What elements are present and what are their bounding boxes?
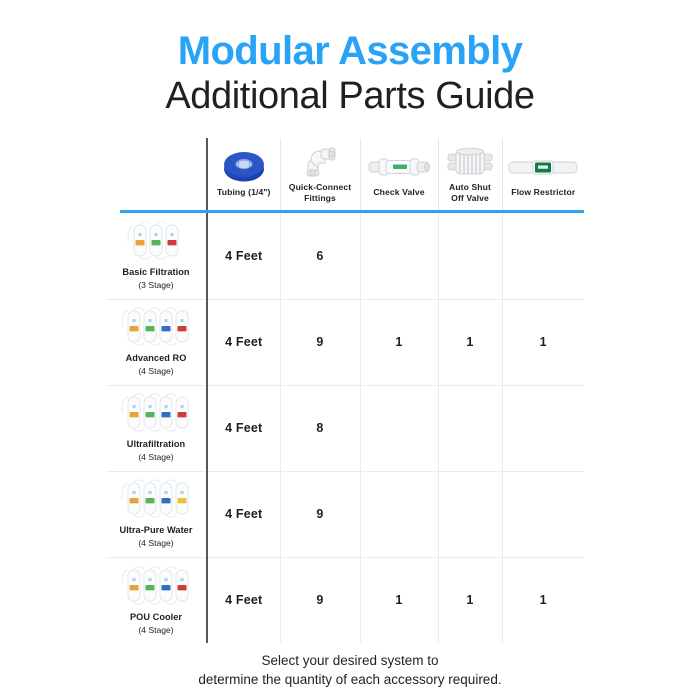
filter-system-4-stage-icon — [108, 393, 204, 433]
row-label-ultrafiltration[interactable]: Ultrafiltration (4 Stage) — [106, 385, 207, 471]
cell-auto-shut-off: 1 — [438, 557, 502, 643]
check-valve-icon — [361, 147, 438, 187]
header-label-auto-shut-off: Auto Shut Off Valve — [439, 182, 502, 206]
cell-value: 1 — [395, 335, 402, 349]
cell-check-valve: 1 — [360, 299, 438, 385]
system-name: Basic Filtration — [108, 267, 204, 278]
row-label-ultra-pure-water[interactable]: Ultra-Pure Water (4 Stage) — [106, 471, 207, 557]
parts-table-wrap: Tubing (1/4") — [106, 138, 584, 643]
header-cell-auto-shut-off: Auto Shut Off Valve — [438, 138, 502, 210]
cell-value: 1 — [466, 335, 473, 349]
system-stage: (4 Stage) — [108, 366, 204, 376]
cell-auto-shut-off — [438, 385, 502, 471]
cell-fittings: 9 — [280, 299, 360, 385]
filter-system-4-stage-icon — [108, 307, 204, 347]
table-header-row: Tubing (1/4") — [106, 138, 584, 210]
cell-flow-restrictor — [502, 213, 584, 299]
footer-line-2: determine the quantity of each accessory… — [0, 670, 700, 690]
cell-value: 6 — [316, 249, 323, 263]
cell-value: 9 — [316, 335, 323, 349]
page-title-sub: Additional Parts Guide — [0, 75, 700, 118]
footer-instructions: Select your desired system to determine … — [0, 651, 700, 690]
cell-value: 1 — [540, 335, 547, 349]
cell-tubing: 4 Feet — [207, 299, 280, 385]
cell-check-valve — [360, 385, 438, 471]
cell-tubing: 4 Feet — [207, 213, 280, 299]
title-block: Modular Assembly Additional Parts Guide — [0, 0, 700, 118]
cell-value: 1 — [466, 593, 473, 607]
system-name: Ultra-Pure Water — [108, 525, 204, 536]
cell-tubing: 4 Feet — [207, 471, 280, 557]
system-name: Advanced RO — [108, 353, 204, 364]
header-label-fittings: Quick-Connect Fittings — [281, 182, 360, 206]
row-label-advanced-ro[interactable]: Advanced RO (4 Stage) — [106, 299, 207, 385]
table-row[interactable]: Advanced RO (4 Stage) 4 Feet 9 1 1 1 — [106, 299, 584, 385]
cell-value: 4 Feet — [225, 593, 262, 607]
filter-system-3-stage-icon — [108, 221, 204, 261]
quick-connect-elbow-fitting-icon — [281, 142, 360, 182]
cell-flow-restrictor: 1 — [502, 299, 584, 385]
system-name: Ultrafiltration — [108, 439, 204, 450]
system-stage: (4 Stage) — [108, 538, 204, 548]
row-label-pou-cooler[interactable]: POU Cooler (4 Stage) — [106, 557, 207, 643]
parts-guide-page: Modular Assembly Additional Parts Guide — [0, 0, 700, 700]
footer-line-1: Select your desired system to — [0, 651, 700, 671]
cell-value: 4 Feet — [225, 249, 262, 263]
system-stage: (4 Stage) — [108, 452, 204, 462]
parts-table: Tubing (1/4") — [106, 138, 584, 643]
table-row[interactable]: Ultrafiltration (4 Stage) 4 Feet 8 — [106, 385, 584, 471]
auto-shut-off-valve-icon — [439, 142, 502, 182]
header-cell-flow-restrictor: Flow Restrictor — [502, 138, 584, 210]
cell-value: 9 — [316, 507, 323, 521]
header-cell-tubing: Tubing (1/4") — [207, 138, 280, 210]
cell-check-valve: 1 — [360, 557, 438, 643]
cell-flow-restrictor — [502, 385, 584, 471]
cell-value: 4 Feet — [225, 421, 262, 435]
cell-fittings: 8 — [280, 385, 360, 471]
cell-flow-restrictor — [502, 471, 584, 557]
cell-value: 4 Feet — [225, 507, 262, 521]
cell-flow-restrictor: 1 — [502, 557, 584, 643]
cell-fittings: 9 — [280, 557, 360, 643]
cell-check-valve — [360, 213, 438, 299]
table-row[interactable]: POU Cooler (4 Stage) 4 Feet 9 1 1 1 — [106, 557, 584, 643]
cell-check-valve — [360, 471, 438, 557]
cell-auto-shut-off: 1 — [438, 299, 502, 385]
flow-restrictor-icon — [503, 147, 585, 187]
cell-value: 4 Feet — [225, 335, 262, 349]
cell-fittings: 9 — [280, 471, 360, 557]
cell-tubing: 4 Feet — [207, 557, 280, 643]
table-row[interactable]: Basic Filtration (3 Stage) 4 Feet 6 — [106, 213, 584, 299]
cell-value: 1 — [540, 593, 547, 607]
row-label-basic-filtration[interactable]: Basic Filtration (3 Stage) — [106, 213, 207, 299]
filter-system-4-stage-icon — [108, 479, 204, 519]
page-title-main: Modular Assembly — [0, 30, 700, 73]
cell-tubing: 4 Feet — [207, 385, 280, 471]
system-stage: (4 Stage) — [108, 625, 204, 635]
table-row[interactable]: Ultra-Pure Water (4 Stage) 4 Feet 9 — [106, 471, 584, 557]
system-name: POU Cooler — [108, 612, 204, 623]
cell-auto-shut-off — [438, 213, 502, 299]
header-label-flow-restrictor: Flow Restrictor — [503, 187, 585, 200]
header-cell-system — [106, 138, 207, 210]
cell-value: 8 — [316, 421, 323, 435]
blue-tubing-coil-icon — [208, 147, 280, 187]
header-label-check-valve: Check Valve — [361, 187, 438, 200]
header-label-tubing: Tubing (1/4") — [208, 187, 280, 200]
cell-value: 9 — [316, 593, 323, 607]
cell-fittings: 6 — [280, 213, 360, 299]
cell-value: 1 — [395, 593, 402, 607]
header-cell-check-valve: Check Valve — [360, 138, 438, 210]
system-stage: (3 Stage) — [108, 280, 204, 290]
header-cell-fittings: Quick-Connect Fittings — [280, 138, 360, 210]
filter-system-4-stage-icon — [108, 566, 204, 606]
cell-auto-shut-off — [438, 471, 502, 557]
